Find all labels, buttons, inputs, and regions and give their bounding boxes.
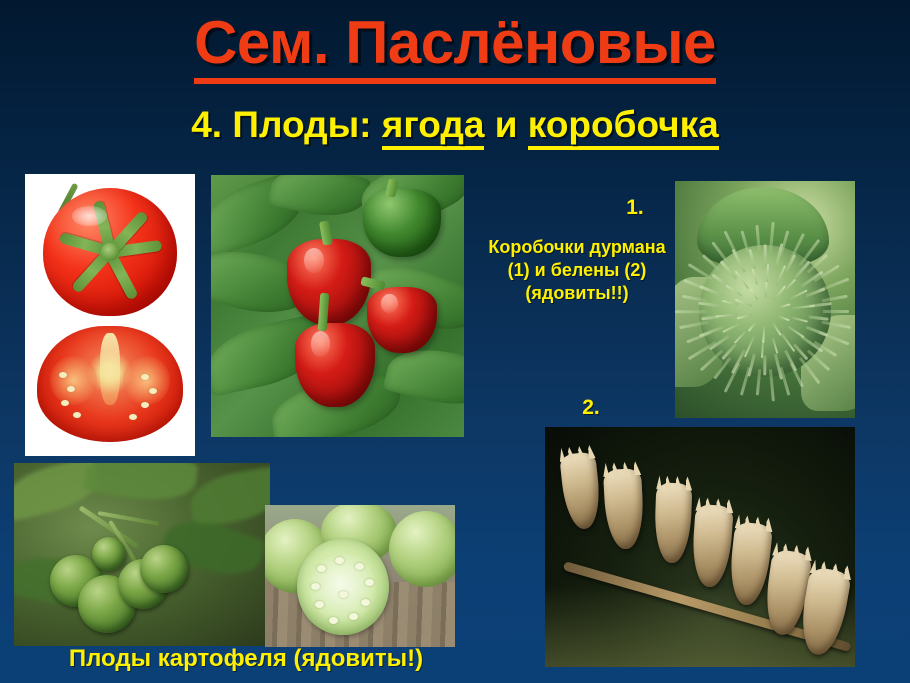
- tomato-core: [100, 333, 120, 405]
- photo-henbane: [545, 427, 855, 667]
- subtitle-conjunction: и: [484, 104, 527, 145]
- pepper-red-1: [287, 239, 371, 325]
- photo-tomato: [25, 174, 195, 456]
- tomato-cross-section: [37, 326, 183, 442]
- page-title: Сем. Паслёновые: [0, 8, 910, 77]
- datura-capsule: [699, 245, 831, 377]
- henbane-pod: [559, 451, 603, 530]
- pepper-red-2: [367, 287, 437, 353]
- subtitle-term-berry: ягода: [382, 104, 485, 150]
- label-datura-number: 1.: [600, 196, 670, 220]
- page-title-text: Сем. Паслёновые: [194, 9, 716, 84]
- tomato-locule-left: [50, 356, 97, 405]
- henbane-pod: [690, 504, 734, 588]
- photo-potato-plant: [14, 463, 270, 646]
- potato-berry: [92, 537, 126, 571]
- photo-datura: [675, 181, 855, 418]
- pepper-green: [363, 189, 441, 257]
- henbane-pod: [603, 468, 645, 550]
- potato-fruit-half: [389, 511, 455, 587]
- photo-potato-cut: [265, 505, 455, 647]
- tomato-whole: [43, 188, 177, 316]
- capsule-note-text: Коробочки дурмана (1) и белены (2) (ядов…: [488, 236, 666, 305]
- tomato-locule-right: [123, 356, 170, 405]
- tomato-calyx-hub: [101, 243, 119, 261]
- potato-berry: [140, 545, 188, 593]
- potato-caption-text: Плоды картофеля (ядовиты!): [0, 645, 492, 673]
- potato-fruit-cross-section: [297, 539, 389, 635]
- henbane-pod: [654, 482, 693, 563]
- subtitle-term-capsule: коробочка: [528, 104, 719, 150]
- slide-root: Сем. Паслёновые 4. Плоды: ягода и коробо…: [0, 0, 910, 683]
- page-subtitle: 4. Плоды: ягода и коробочка: [0, 104, 910, 146]
- label-henbane-number: 2.: [556, 396, 626, 420]
- subtitle-prefix: 4. Плоды:: [191, 104, 382, 145]
- photo-peppers: [211, 175, 464, 437]
